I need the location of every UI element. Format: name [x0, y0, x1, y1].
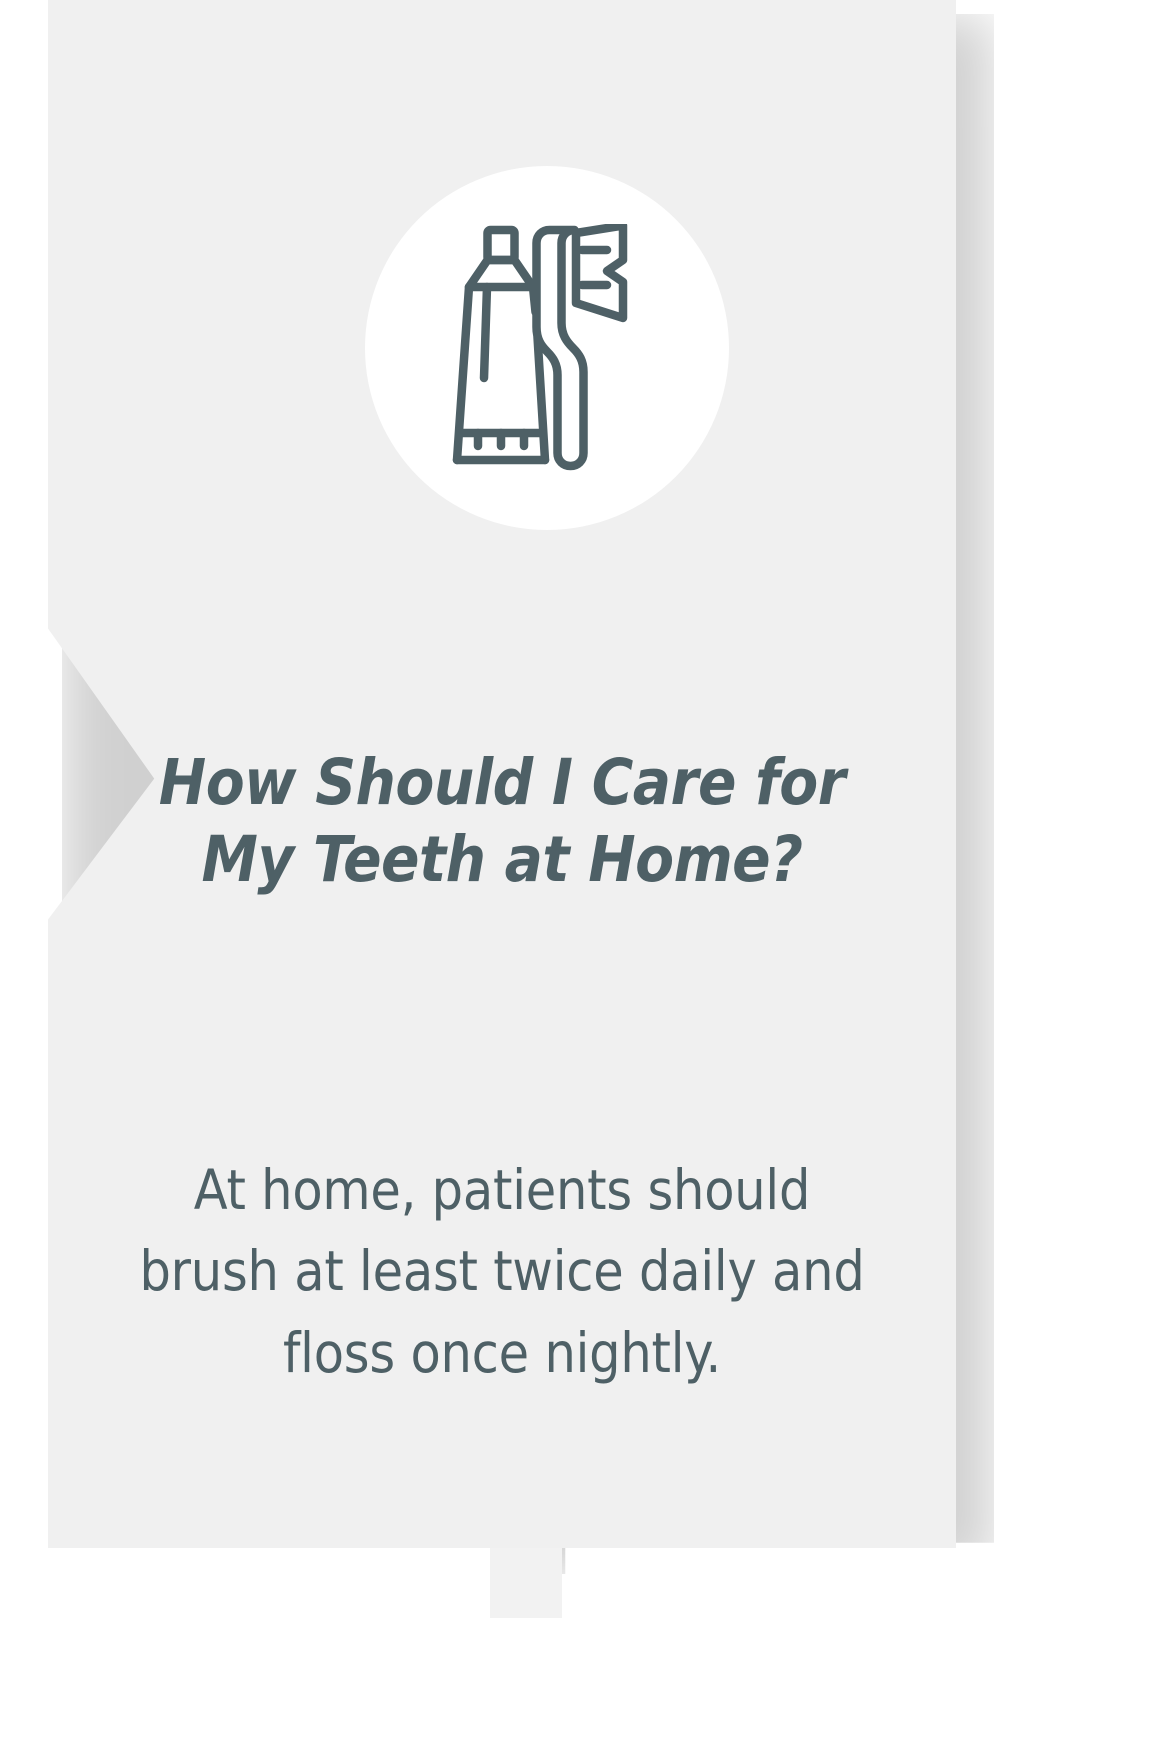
card-title: How Should I Care for My Teeth at Home?	[48, 745, 956, 899]
icon-badge	[365, 166, 729, 530]
page-canvas: How Should I Care for My Teeth at Home? …	[0, 0, 1152, 1749]
card-bottom-tab	[490, 1548, 562, 1618]
info-card: How Should I Care for My Teeth at Home? …	[48, 0, 956, 1548]
card-body-text: At home, patients should brush at least …	[48, 1150, 956, 1394]
